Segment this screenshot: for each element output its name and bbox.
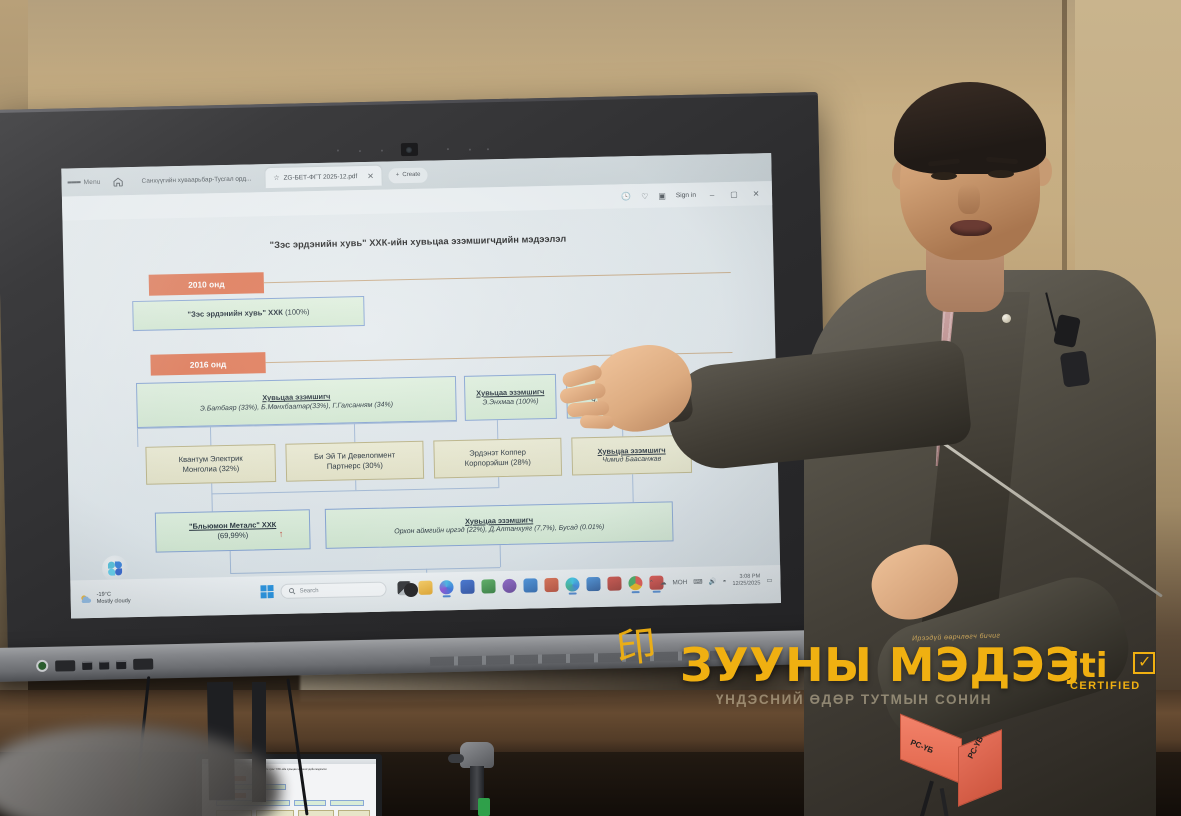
shareholder-box-1: Хувьцаа эзэмшигч Э.Батбаяр (33%), Б.Мөнх…	[136, 376, 457, 428]
favorites-icon[interactable]: ♡	[641, 191, 648, 200]
shareholder-body: Э.Энхмаа (100%)	[482, 397, 538, 407]
battery-icon[interactable]: ◓	[722, 578, 726, 585]
company-box-1: Квантум Электрик Монголиа (32%)	[145, 444, 276, 485]
network-icon[interactable]: ⌨	[693, 578, 702, 586]
tab-title: Санхүүгийн хуваарьбар-Тусгал орд...	[142, 175, 252, 184]
jti-certified-label: CERTIFIED	[1070, 680, 1141, 692]
slide-title: "Зэс эрдэнийн хувь" ХХК-ийн хувьцаа эзэм…	[63, 229, 773, 254]
weather-widget[interactable]: -19°C Mostly cloudy	[80, 591, 131, 606]
connector	[500, 545, 501, 567]
port-usb	[116, 660, 126, 669]
shareholder-body: Э.Батбаяр (33%), Б.Мөнхбаатар(33%), Г.Га…	[200, 400, 393, 413]
company-box-2: Би Эй Ти Девелопмент Партнерс (30%)	[285, 441, 424, 482]
viber-icon[interactable]	[502, 579, 516, 593]
tab-title: ZG-БЕТ-ФГТ 2025-12.pdf	[284, 173, 358, 182]
year-divider-2010	[264, 272, 731, 283]
connector	[497, 420, 498, 439]
company-line-2: Чимид Баасанжав	[602, 455, 661, 466]
tripod-head	[460, 742, 494, 768]
onedrive-icon[interactable]: ☁	[660, 579, 667, 587]
eye-right	[988, 170, 1014, 178]
up-arrow-icon: ↑	[279, 529, 284, 541]
search-icon	[288, 588, 295, 595]
company-box-3: Эрдэнэт Коппер Корпорэйшн (28%)	[433, 438, 562, 479]
connector	[230, 551, 231, 573]
display-webcam	[401, 143, 418, 156]
company-box-2010: "Зэс эрдэнийн хувь" ХХК (100%)	[132, 296, 365, 331]
plus-icon: +	[396, 172, 400, 178]
company-line-2: Корпорэйшн (28%)	[465, 457, 531, 468]
maximize-button[interactable]: ▢	[728, 189, 740, 198]
connector	[355, 480, 356, 490]
taskbar-clock[interactable]: 3:08 PM 12/25/2025	[732, 573, 760, 588]
microphone-stand	[940, 788, 953, 816]
outlook-icon[interactable]	[586, 577, 600, 591]
nose	[958, 184, 980, 214]
connector	[211, 483, 213, 511]
company-line-2: Партнерс (30%)	[327, 461, 383, 472]
sign-in-button[interactable]: Sign in	[676, 191, 696, 198]
port-usb	[99, 660, 109, 669]
chevron-up-icon[interactable]: ⌃	[649, 579, 655, 587]
jti-check-icon	[1133, 652, 1155, 674]
file-explorer-icon[interactable]	[418, 581, 432, 595]
port-lan	[133, 658, 153, 669]
powerpoint-icon[interactable]	[544, 578, 558, 592]
search-placeholder: Search	[299, 588, 318, 594]
laptop-row-box	[330, 800, 364, 806]
cloud-icon	[80, 594, 93, 605]
port-usb	[82, 660, 92, 669]
laptop-row-box	[294, 800, 326, 806]
eye-left	[931, 172, 957, 180]
hamburger-menu-icon[interactable]	[68, 179, 81, 185]
connector	[137, 428, 138, 447]
presenter-hair	[894, 82, 1046, 174]
copilot-icon[interactable]	[439, 580, 453, 594]
store-icon[interactable]	[523, 578, 537, 592]
connector	[210, 426, 211, 445]
close-icon[interactable]: ✕	[367, 171, 374, 180]
watermark-subtitle: ҮНДЭСНИЙ ӨДӨР ТУТМЫН СОНИН	[716, 692, 992, 707]
laptop-tan-box	[338, 810, 370, 816]
taskbar-center: Search	[260, 582, 386, 600]
new-tab-button[interactable]: + Create	[389, 167, 428, 183]
windows-start-icon[interactable]	[260, 585, 273, 598]
edge-icon[interactable]	[565, 577, 579, 591]
connector	[632, 474, 634, 502]
clock-date: 12/25/2025	[732, 581, 760, 589]
tripod-indicator	[478, 798, 490, 816]
minimize-button[interactable]: –	[706, 190, 718, 199]
search-input[interactable]: Search	[280, 582, 386, 599]
year-badge-2016: 2016 онд	[150, 352, 265, 376]
browser-tab-active[interactable]: ☆ ZG-БЕТ-ФГТ 2025-12.pdf ✕	[265, 166, 382, 189]
laptop-tan-box	[298, 810, 334, 816]
lapel-pin	[1002, 314, 1011, 323]
star-icon: ☆	[273, 174, 279, 182]
pointer-tip	[404, 583, 418, 597]
power-button-icon[interactable]	[36, 660, 48, 672]
menu-label: Menu	[84, 178, 101, 185]
company-line-2: Монголиа (32%)	[182, 464, 239, 475]
mouth-speaking	[950, 220, 992, 236]
teams-icon[interactable]	[481, 579, 495, 593]
chrome-icon[interactable]	[628, 576, 642, 590]
bluemont-share: (69,99%)	[217, 530, 248, 541]
orkhon-shareholder-box: Хувьцаа эзэмшигч Орхон аймгийн иргэд (22…	[325, 501, 674, 549]
finger	[580, 415, 614, 429]
word-icon[interactable]	[607, 576, 621, 590]
camera-tripod	[448, 742, 514, 816]
home-icon[interactable]	[113, 176, 124, 187]
tripod-knob	[448, 754, 464, 763]
copilot-icon[interactable]	[102, 555, 129, 582]
weather-text: -19°C Mostly cloudy	[97, 591, 131, 606]
language-indicator[interactable]: МОН	[672, 579, 687, 586]
company-name: "Зэс эрдэнийн хувь" ХХК	[187, 308, 283, 319]
bluemont-box: "Бльюмон Металс" ХХК (69,99%) ↑	[155, 509, 311, 552]
transmitter-pack	[1060, 350, 1090, 387]
system-tray: ⌃ ☁ МОН ⌨ 🔊 ◓ 3:08 PM 12/25/2025 ▭	[649, 573, 773, 590]
connector	[498, 477, 499, 487]
microphone-stand	[914, 781, 934, 816]
sound-icon[interactable]: 🔊	[708, 578, 716, 586]
shareholder-body: Орхон аймгийн иргэд (22%), Д.Алтанхуяг (…	[394, 523, 604, 537]
port-hdmi	[55, 660, 75, 671]
taskbar-app-icons	[397, 576, 663, 596]
year-badge-2010: 2010 онд	[149, 272, 264, 296]
news-watermark: ЗУУНЫ МЭДЭЭ ҮНДЭСНИЙ ӨДӨР ТУТМЫН СОНИН j…	[680, 630, 1180, 740]
watermark-title: ЗУУНЫ МЭДЭЭ	[680, 638, 1079, 692]
collections-icon[interactable]: ▣	[658, 191, 666, 200]
shareholder-box-2: Хувьцаа эзэмшигч Э.Энхмаа (100%)	[464, 374, 557, 421]
history-icon[interactable]: 🕓	[621, 192, 631, 201]
new-tab-label: Create	[402, 172, 420, 178]
connector	[354, 423, 355, 442]
company-share: (100%)	[285, 307, 310, 317]
settings-icon[interactable]	[460, 580, 474, 594]
weather-desc: Mostly cloudy	[97, 598, 131, 606]
browser-tab-inactive[interactable]: Санхүүгийн хуваарьбар-Тусгал орд...	[133, 168, 259, 191]
